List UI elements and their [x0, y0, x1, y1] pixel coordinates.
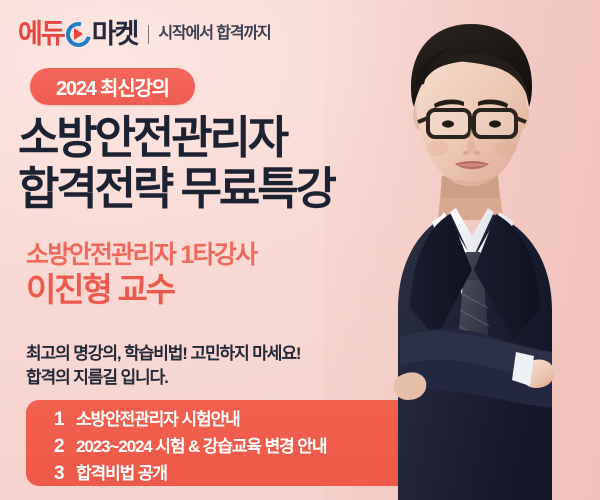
description-block: 최고의 명강의, 학습비법! 고민하지 마세요! 합격의 지름길 입니다. [26, 342, 300, 391]
description-line-1: 최고의 명강의, 학습비법! 고민하지 마세요! [26, 342, 300, 366]
logo-market-text: 마켓 [92, 21, 138, 48]
curriculum-label: 합격비법 공개 [76, 462, 167, 486]
instructor-name: 이진형 교수 [26, 270, 256, 311]
curriculum-label: 2023~2024 시험 & 강습교육 변경 안내 [76, 435, 326, 459]
description-line-2: 합격의 지름길 입니다. [26, 366, 300, 390]
curriculum-number: 2 [54, 434, 76, 461]
brand-tagline: 시작에서 합격까지 [158, 26, 270, 42]
logo-divider [148, 25, 149, 44]
play-circle-icon [66, 22, 91, 47]
instructor-portrait [338, 8, 600, 500]
instructor-role: 소방안전관리자 1타강사 [26, 240, 256, 270]
logo-edu-text: 에듀 [18, 21, 64, 48]
brand-logo[interactable]: 에듀 마켓 시작에서 합격까지 [18, 17, 271, 51]
curriculum-label: 소방안전관리자 시험안내 [76, 408, 240, 432]
headline-line-2: 합격전략 무료특강 [18, 163, 334, 214]
status-badge: 2024 최신강의 [30, 68, 195, 105]
curriculum-number: 3 [54, 461, 76, 488]
headline-line-1: 소방안전관리자 [18, 112, 334, 163]
promo-banner[interactable]: 에듀 마켓 시작에서 합격까지 2024 최신강의 소방안전관리자 합격전략 무… [0, 0, 600, 500]
page-title: 소방안전관리자 합격전략 무료특강 [18, 112, 334, 215]
curriculum-number: 1 [54, 407, 76, 434]
instructor-block: 소방안전관리자 1타강사 이진형 교수 [26, 240, 256, 311]
